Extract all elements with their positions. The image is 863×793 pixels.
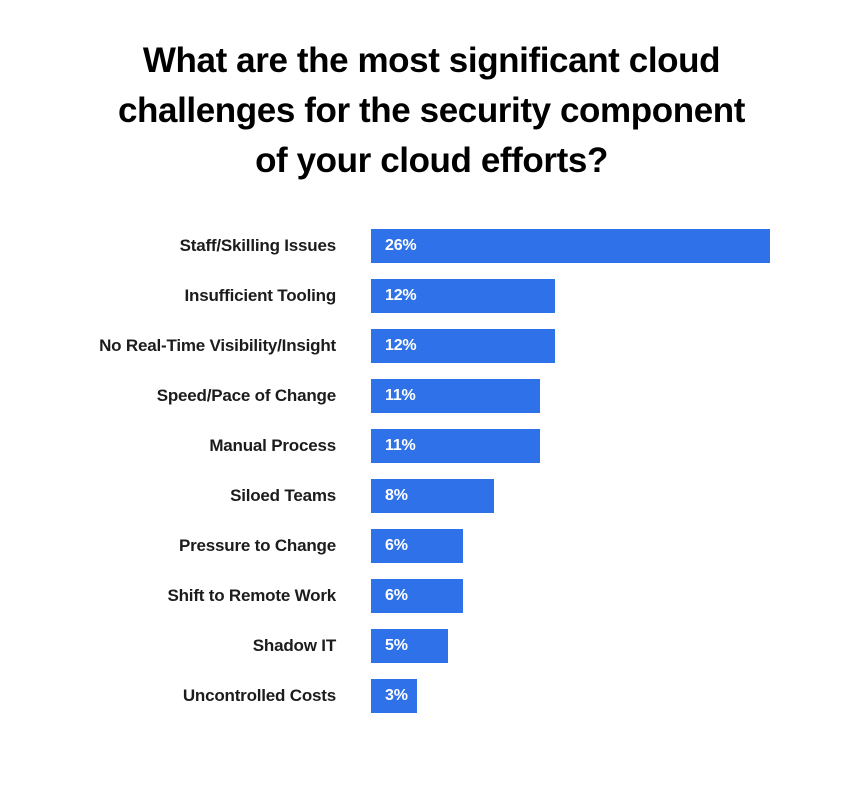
category-label: Speed/Pace of Change	[0, 379, 336, 413]
bar-track: 12%	[371, 329, 851, 363]
bar-row: No Real-Time Visibility/Insight12%	[0, 329, 863, 379]
bar-row: Manual Process11%	[0, 429, 863, 479]
bar-row: Insufficient Tooling12%	[0, 279, 863, 329]
bar-track: 8%	[371, 479, 851, 513]
bar-row: Shadow IT5%	[0, 629, 863, 679]
bar-row: Pressure to Change6%	[0, 529, 863, 579]
bar-row: Siloed Teams8%	[0, 479, 863, 529]
category-label: Siloed Teams	[0, 479, 336, 513]
bar-track: 5%	[371, 629, 851, 663]
bar-chart-plot-area: Staff/Skilling Issues26%Insufficient Too…	[0, 229, 863, 729]
bar: 8%	[371, 479, 494, 513]
bar-value-label: 6%	[385, 579, 408, 613]
bar-track: 12%	[371, 279, 851, 313]
bar-row: Shift to Remote Work6%	[0, 579, 863, 629]
bar-value-label: 12%	[385, 329, 416, 363]
bar-value-label: 11%	[385, 379, 416, 413]
bar: 6%	[371, 529, 463, 563]
category-label: No Real-Time Visibility/Insight	[0, 329, 336, 363]
bar-track: 3%	[371, 679, 851, 713]
bar-track: 11%	[371, 379, 851, 413]
bar-track: 6%	[371, 579, 851, 613]
bar: 11%	[371, 379, 540, 413]
bar-value-label: 5%	[385, 629, 408, 663]
bar: 5%	[371, 629, 448, 663]
bar-value-label: 11%	[385, 429, 416, 463]
category-label: Shift to Remote Work	[0, 579, 336, 613]
bar-row: Speed/Pace of Change11%	[0, 379, 863, 429]
category-label: Pressure to Change	[0, 529, 336, 563]
bar-value-label: 8%	[385, 479, 408, 513]
category-label: Uncontrolled Costs	[0, 679, 336, 713]
bar-value-label: 12%	[385, 279, 416, 313]
bar-row: Uncontrolled Costs3%	[0, 679, 863, 729]
bar: 26%	[371, 229, 770, 263]
bar: 12%	[371, 279, 555, 313]
category-label: Insufficient Tooling	[0, 279, 336, 313]
bar-value-label: 26%	[385, 229, 416, 263]
bar-value-label: 6%	[385, 529, 408, 563]
bar: 6%	[371, 579, 463, 613]
category-label: Staff/Skilling Issues	[0, 229, 336, 263]
category-label: Shadow IT	[0, 629, 336, 663]
category-label: Manual Process	[0, 429, 336, 463]
bar-track: 11%	[371, 429, 851, 463]
bar: 11%	[371, 429, 540, 463]
page-title: What are the most significant cloud chal…	[50, 36, 813, 186]
bar-row: Staff/Skilling Issues26%	[0, 229, 863, 279]
chart-page: What are the most significant cloud chal…	[0, 0, 863, 793]
bar-value-label: 3%	[385, 679, 408, 713]
bar: 12%	[371, 329, 555, 363]
bar-track: 6%	[371, 529, 851, 563]
bar-track: 26%	[371, 229, 851, 263]
bar: 3%	[371, 679, 417, 713]
